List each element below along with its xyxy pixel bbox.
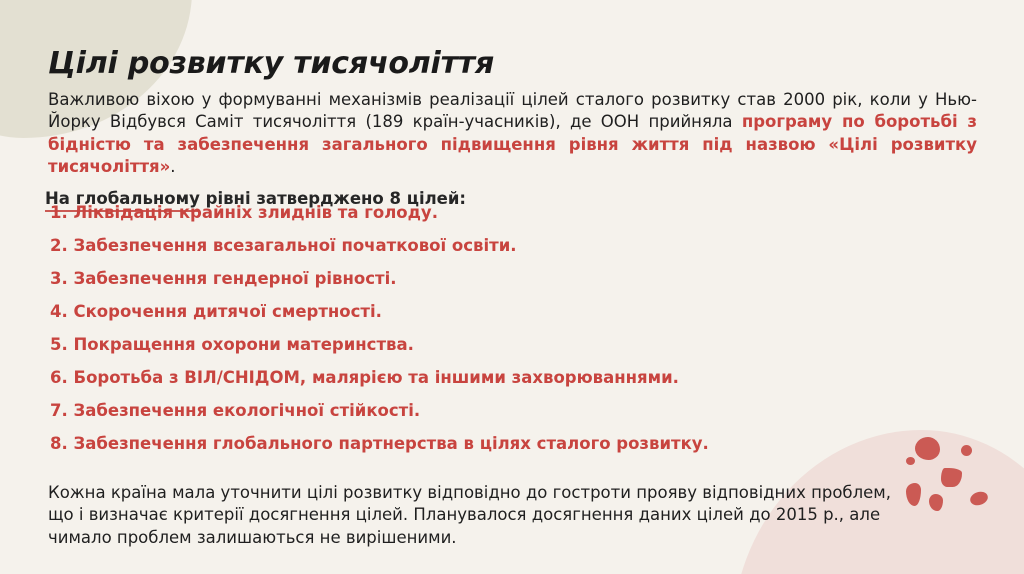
- goal-list-item: 5. Покращення охорони материнства.: [50, 332, 910, 365]
- goal-list-item: 1. Ліквідація крайніх злиднів та голоду.: [50, 200, 910, 233]
- goals-list: 1. Ліквідація крайніх злиднів та голоду.…: [50, 200, 910, 464]
- red-dot-decoration-2: [961, 445, 972, 456]
- goal-text: Забезпечення глобального партнерства в ц…: [74, 434, 709, 453]
- goal-text: Боротьба з ВІЛ/СНІДОМ, малярією та іншим…: [74, 368, 679, 387]
- page-title: Цілі розвитку тисячоліття: [48, 46, 494, 81]
- goal-list-item: 2. Забезпечення всезагальної початкової …: [50, 233, 910, 266]
- goal-list-item: 3. Забезпечення гендерної рівності.: [50, 266, 910, 299]
- goal-list-item: 8. Забезпечення глобального партнерства …: [50, 431, 910, 464]
- goal-text: Ліквідація крайніх злиднів та голоду.: [74, 203, 438, 222]
- red-dot-decoration-5: [906, 483, 921, 506]
- outro-paragraph: Кожна країна мала уточнити цілі розвитку…: [48, 482, 893, 550]
- goal-number: 4.: [50, 302, 68, 321]
- goal-text: Забезпечення всезагальної початкової осв…: [74, 236, 517, 255]
- intro-paragraph: Важливою віхою у формуванні механізмів р…: [48, 89, 977, 179]
- intro-text-part-2: .: [170, 157, 175, 176]
- red-dot-decoration-6: [929, 494, 943, 511]
- goal-number: 5.: [50, 335, 68, 354]
- goal-text: Забезпечення екологічної стійкості.: [74, 401, 421, 420]
- goal-list-item: 6. Боротьба з ВІЛ/СНІДОМ, малярією та ін…: [50, 365, 910, 398]
- red-dot-decoration-7: [968, 490, 989, 508]
- goal-number: 7.: [50, 401, 68, 420]
- goal-text: Забезпечення гендерної рівності.: [74, 269, 397, 288]
- goal-number: 6.: [50, 368, 68, 387]
- red-dot-decoration-1: [915, 437, 940, 460]
- goal-number: 2.: [50, 236, 68, 255]
- goal-list-item: 4. Скорочення дитячої смертності.: [50, 299, 910, 332]
- goal-number: 8.: [50, 434, 68, 453]
- goal-number: 1.: [50, 203, 68, 222]
- goal-text: Скорочення дитячої смертності.: [74, 302, 382, 321]
- slide-canvas: Цілі розвитку тисячоліття Важливою віхою…: [0, 0, 1024, 574]
- goal-list-item: 7. Забезпечення екологічної стійкості.: [50, 398, 910, 431]
- red-dot-decoration-4: [941, 468, 962, 487]
- goal-text: Покращення охорони материнства.: [74, 335, 414, 354]
- goal-number: 3.: [50, 269, 68, 288]
